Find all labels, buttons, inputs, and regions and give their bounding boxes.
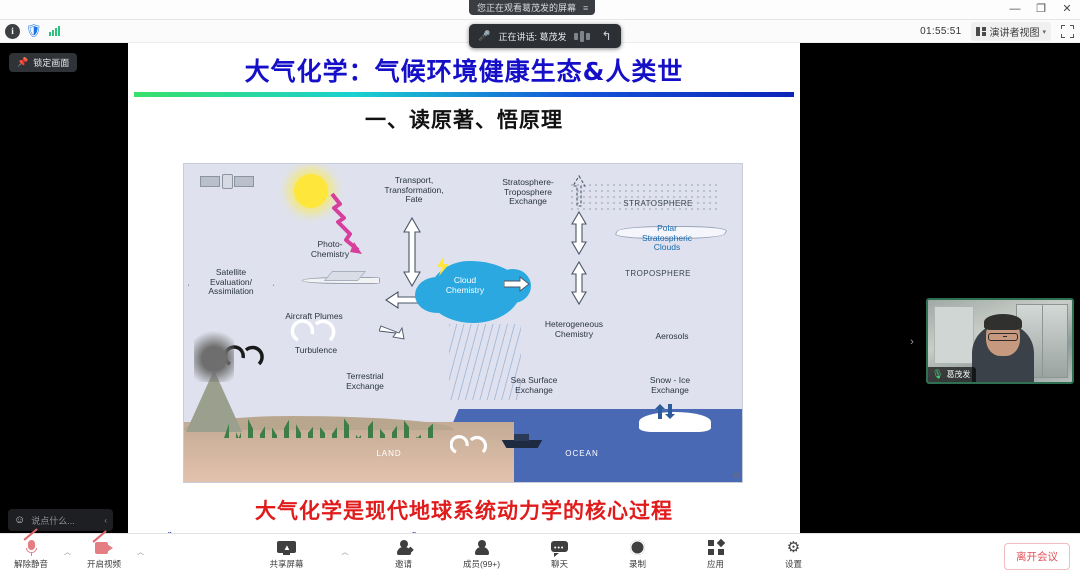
label-transport: Transport, Transformation, Fate — [364, 176, 464, 205]
vertical-exchange-arrow-icon — [399, 216, 425, 288]
toolbar-left-group: 解除静音 ︿ 开启视频 ︿ — [8, 539, 144, 570]
meeting-window: — ❐ ✕ i 🛡 01:55:51 演讲者视图 ▾ 您正在观看葛茂发的屏幕 ≡… — [0, 0, 1080, 575]
camera-options-chevron-icon[interactable]: ︿ — [137, 547, 144, 557]
shield-icon[interactable]: 🛡 — [26, 24, 41, 39]
label-stratosphere: STRATOSPHERE — [602, 200, 714, 209]
title-divider — [134, 92, 794, 97]
shared-screen-stage: 📌 锁定画面 大气化学：气候环境健康生态&人类世 一、读原著、悟原理 — [0, 43, 1080, 533]
ship-icon — [499, 434, 545, 448]
close-button[interactable]: ✕ — [1054, 0, 1080, 20]
cloud-inflow-arrow-icon — [379, 324, 405, 340]
apps-icon — [708, 539, 724, 556]
camera-off-icon — [95, 539, 113, 556]
video-background-window — [934, 306, 974, 364]
minimize-button[interactable]: — — [1002, 0, 1028, 20]
participant-glasses — [988, 333, 1018, 341]
chat-icon: ••• — [551, 539, 568, 556]
members-label: 成员(99+) — [463, 558, 500, 570]
invite-label: 邀请 — [395, 558, 412, 570]
layout-icon — [976, 27, 986, 36]
apps-button[interactable]: 应用 — [693, 539, 739, 570]
satellite-icon — [200, 168, 254, 198]
label-strat-trop-exchange: Stratosphere- Troposphere Exchange — [484, 178, 572, 207]
slide-subtitle: 一、读原著、悟原理 — [128, 104, 800, 134]
share-screen-label: 共享屏幕 — [269, 558, 303, 570]
invite-button[interactable]: ◆ 邀请 — [381, 539, 427, 570]
pin-screen-label: 锁定画面 — [33, 56, 69, 69]
quick-chat-input[interactable]: ☺ 说点什么... ‹ — [8, 509, 113, 531]
label-aircraft-plumes: Aircraft Plumes — [268, 312, 360, 322]
maximize-button[interactable]: ❐ — [1028, 0, 1054, 20]
pin-screen-button[interactable]: 📌 锁定画面 — [9, 53, 77, 72]
label-ocean: OCEAN — [554, 450, 610, 459]
share-options-chevron-icon[interactable]: ︿ — [342, 547, 349, 557]
start-video-label: 开启视频 — [87, 558, 121, 570]
record-icon — [630, 539, 645, 556]
snow-ice-exchange-arrow-icon — [654, 404, 676, 420]
label-terrestrial-exchange: Terrestrial Exchange — [326, 372, 404, 391]
label-snow-ice-exchange: Snow - Ice Exchange — [632, 376, 708, 395]
label-satellite: Satellite Evaluation/ Assimilation — [192, 268, 270, 297]
slide-conclusion-text: 大气化学是现代地球系统动力学的核心过程 — [128, 495, 800, 525]
sea-surface-curl-icon — [450, 430, 494, 460]
collapse-icon[interactable]: ‹ — [104, 516, 107, 525]
view-mode-selector[interactable]: 演讲者视图 ▾ — [971, 22, 1051, 41]
quick-chat-placeholder: 说点什么... — [31, 514, 98, 527]
emoji-icon[interactable]: ☺ — [14, 514, 25, 526]
slide-title: 大气化学：气候环境健康生态&人类世 — [128, 52, 800, 88]
cloud-outflow-arrow-icon — [504, 276, 530, 292]
label-turbulence: Turbulence — [282, 346, 350, 356]
info-icon[interactable]: i — [5, 24, 20, 39]
settings-gear-icon: ⚙ — [786, 539, 802, 556]
settings-label: 设置 — [785, 558, 802, 570]
volcano-smoke — [194, 324, 234, 382]
microphone-icon: 🎤 — [478, 31, 490, 42]
microphone-muted-icon — [26, 539, 37, 556]
leave-meeting-button[interactable]: 离开会议 — [1004, 543, 1070, 570]
participant-name: 葛茂发 — [946, 369, 970, 380]
start-video-button[interactable]: 开启视频 — [81, 539, 127, 570]
meeting-toolbar: 解除静音 ︿ 开启视频 ︿ ▲ 共享屏幕 ︿ ◆ — [0, 533, 1080, 575]
label-land: LAND — [364, 450, 414, 459]
chat-label: 聊天 — [551, 558, 568, 570]
speaking-label: 正在讲话: 葛茂发 — [498, 30, 566, 43]
lightning-icon — [436, 256, 450, 276]
strat-trop-arrow-upper-icon — [568, 210, 590, 256]
record-button[interactable]: 录制 — [615, 539, 661, 570]
share-screen-icon: ▲ — [277, 539, 296, 556]
signal-icon[interactable] — [47, 24, 62, 39]
invite-icon: ◆ — [396, 539, 412, 556]
unmute-button[interactable]: 解除静音 — [8, 539, 54, 570]
record-label: 录制 — [629, 558, 646, 570]
pin-icon: 📌 — [17, 57, 28, 68]
audio-wave-icon — [574, 31, 590, 42]
chevron-down-icon: ▾ — [1042, 28, 1046, 36]
speaking-indicator-pill: 🎤 正在讲话: 葛茂发 ↰ — [469, 24, 621, 48]
label-aerosols: Aerosols — [636, 332, 708, 342]
toolbar-center-group: ▲ 共享屏幕 ︿ ◆ 邀请 成员(99+) ••• — [0, 539, 1080, 570]
unmute-label: 解除静音 — [14, 558, 48, 570]
screen-share-banner: 您正在观看葛茂发的屏幕 ≡ — [469, 0, 595, 15]
aircraft-icon — [302, 269, 380, 289]
screen-share-banner-text: 您正在观看葛茂发的屏幕 — [477, 1, 576, 14]
menu-icon[interactable]: ≡ — [583, 3, 587, 13]
mic-options-chevron-icon[interactable]: ︿ — [64, 547, 71, 557]
label-sea-surface-exchange: Sea Surface Exchange — [494, 376, 574, 395]
label-polar-stratospheric-clouds: Polar Stratospheric Clouds — [624, 224, 710, 253]
participant-video-tile[interactable]: 🎙 葛茂发 — [926, 298, 1074, 384]
participant-hair — [984, 314, 1022, 330]
share-screen-button[interactable]: ▲ 共享屏幕 — [264, 539, 310, 570]
strat-trop-arrow-lower-icon — [568, 260, 590, 306]
label-troposphere: TROPOSPHERE — [602, 270, 714, 279]
atmospheric-chemistry-diagram: Satellite Evaluation/ Assimilation Photo… — [183, 163, 743, 483]
return-icon[interactable]: ↰ — [601, 29, 611, 43]
fullscreen-icon[interactable] — [1061, 25, 1074, 38]
members-button[interactable]: 成员(99+) — [459, 539, 505, 570]
side-panel-toggle[interactable]: › — [906, 333, 918, 351]
label-ice: ICE — [680, 422, 710, 429]
meeting-timer: 01:55:51 — [920, 26, 961, 37]
figure-signature: © — [734, 473, 739, 480]
meeting-status-controls: 01:55:51 演讲者视图 ▾ — [920, 20, 1074, 43]
participant-name-badge: 🎙 葛茂发 — [928, 367, 976, 382]
members-icon — [474, 539, 490, 556]
apps-label: 应用 — [707, 558, 724, 570]
label-cloud-chemistry: Cloud Chemistry — [436, 276, 494, 295]
label-heterogeneous-chemistry: Heterogeneous Chemistry — [528, 320, 620, 339]
label-photochemistry: Photo- Chemistry — [302, 240, 358, 259]
view-mode-label: 演讲者视图 — [989, 24, 1039, 39]
mic-active-icon: 🎙 — [932, 369, 943, 380]
sun-icon — [294, 174, 328, 208]
settings-button[interactable]: ⚙ 设置 — [771, 539, 817, 570]
chat-button[interactable]: ••• 聊天 — [537, 539, 583, 570]
presentation-slide: 大气化学：气候环境健康生态&人类世 一、读原著、悟原理 — [128, 43, 800, 533]
